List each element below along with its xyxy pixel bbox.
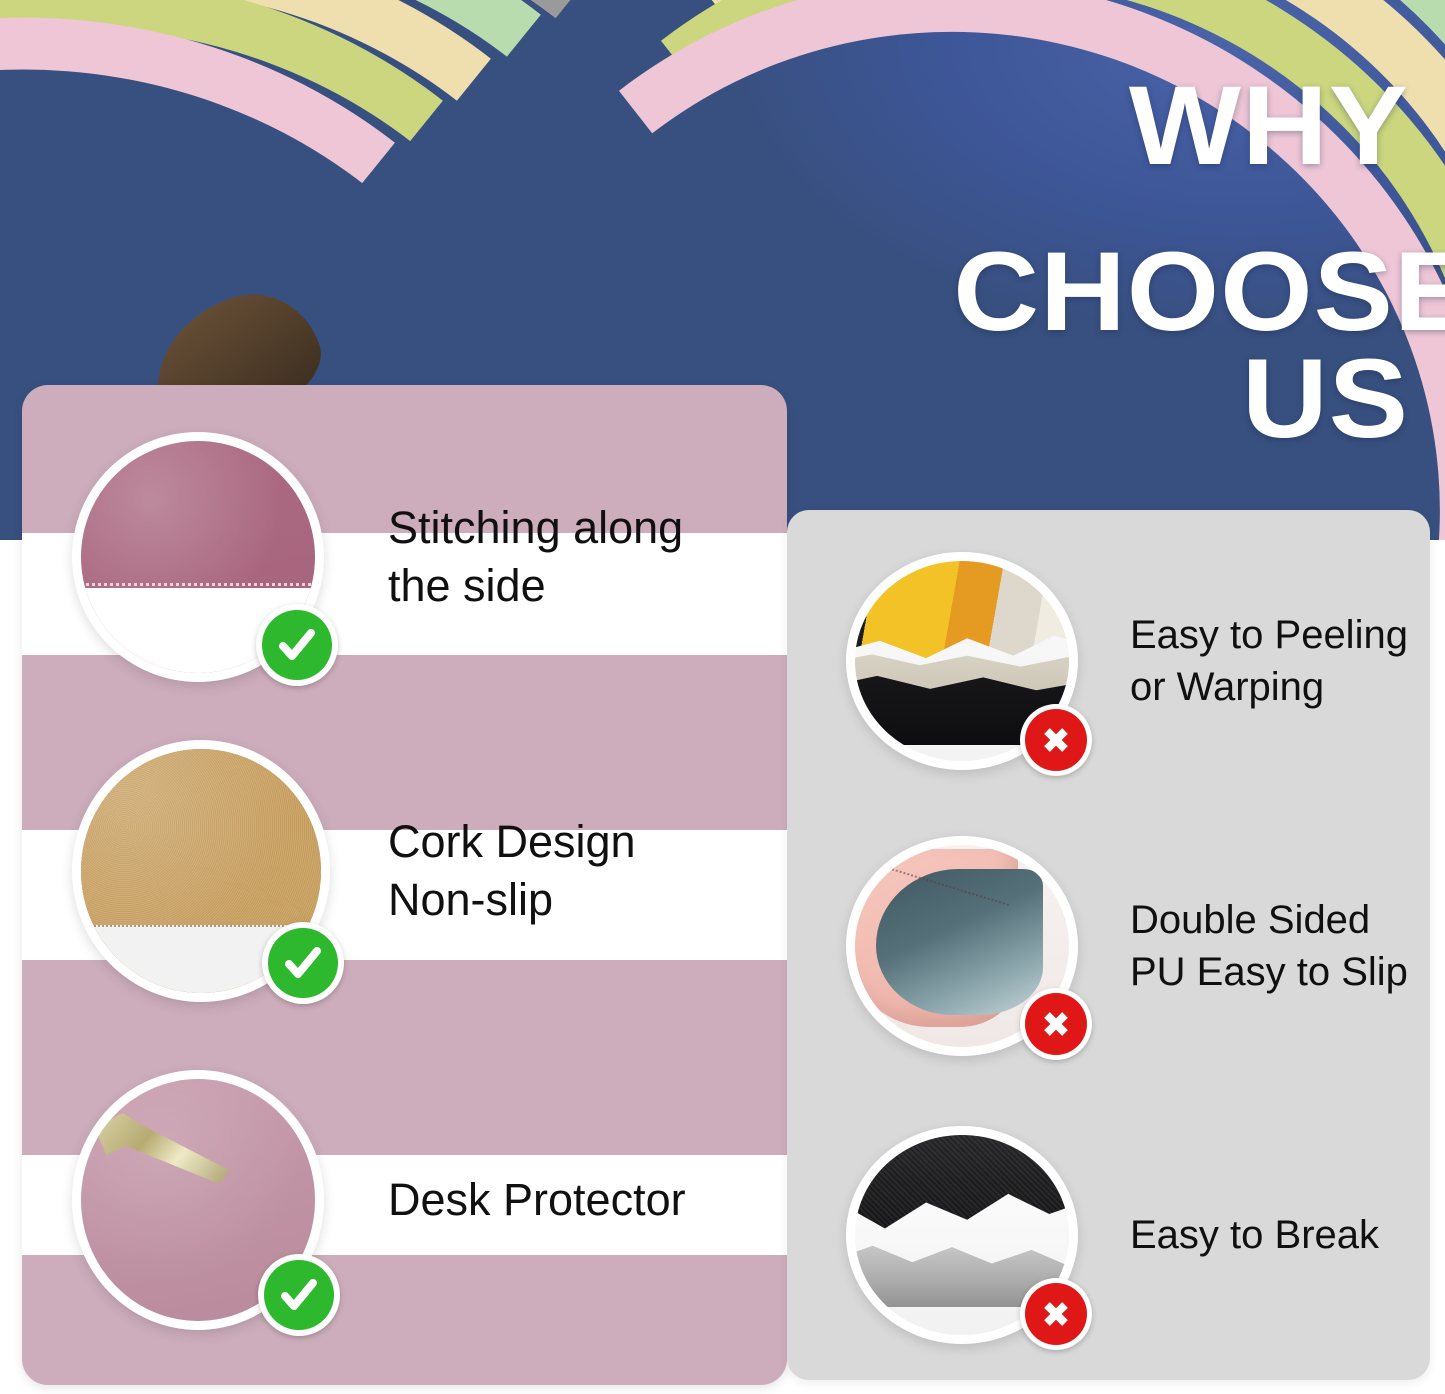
- page-title: WHY CHOOSE US: [979, 72, 1409, 453]
- con-label-2: Double Sided PU Easy to Slip: [1130, 894, 1408, 998]
- check-icon: [281, 941, 325, 985]
- pro-label-3: Desk Protector: [388, 1171, 686, 1230]
- cross-badge-3: [1020, 1278, 1092, 1350]
- pro-thumb-wrap-3: [72, 1070, 324, 1330]
- pro-item-protector: Desk Protector: [72, 1070, 772, 1330]
- con-item-slip: Double Sided PU Easy to Slip: [846, 836, 1426, 1056]
- cross-icon: [1038, 1006, 1074, 1042]
- con-label-3: Easy to Break: [1130, 1209, 1379, 1261]
- con-label-1: Easy to Peeling or Warping: [1130, 609, 1408, 713]
- pro-label-2: Cork Design Non-slip: [388, 813, 636, 930]
- pro-item-stitching: Stitching along the side: [72, 432, 772, 682]
- pro-thumb-wrap-1: [72, 432, 324, 682]
- con-item-peeling: Easy to Peeling or Warping: [846, 552, 1426, 770]
- check-badge-1: [256, 604, 338, 686]
- con-thumb-wrap-1: [846, 552, 1078, 770]
- con-thumb-wrap-2: [846, 836, 1078, 1056]
- cross-badge-1: [1020, 704, 1092, 776]
- title-line-2: CHOOSE US: [953, 238, 1409, 453]
- con-item-break: Easy to Break: [846, 1126, 1426, 1344]
- pro-thumb-wrap-2: [72, 740, 330, 1002]
- cross-badge-2: [1020, 988, 1092, 1060]
- con-thumb-wrap-3: [846, 1126, 1078, 1344]
- pro-label-1: Stitching along the side: [388, 499, 683, 616]
- check-icon: [277, 1273, 321, 1317]
- check-badge-3: [258, 1254, 340, 1336]
- infographic-root: WHY CHOOSE US: [0, 0, 1445, 1394]
- check-icon: [275, 623, 319, 667]
- title-line-1: WHY: [953, 72, 1409, 180]
- cross-icon: [1038, 722, 1074, 758]
- pro-item-cork: Cork Design Non-slip: [72, 740, 772, 1002]
- check-badge-2: [262, 922, 344, 1004]
- cross-icon: [1038, 1296, 1074, 1332]
